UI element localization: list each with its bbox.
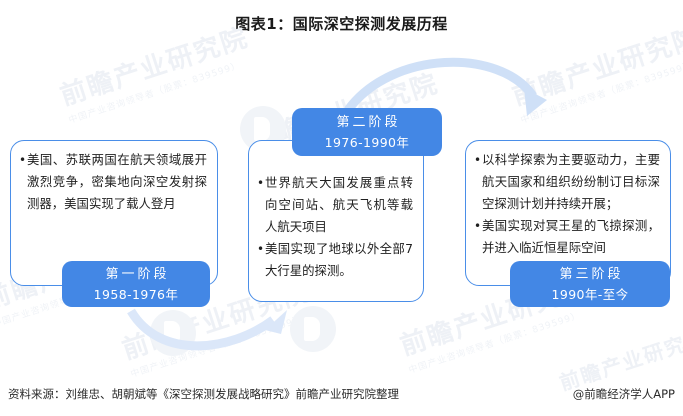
watermark-main: 前瞻产业研究院	[57, 23, 253, 112]
stage-3-label[interactable]: 第三阶段 1990年-至今	[510, 261, 670, 307]
stage-2-bullets: 世界航天大国发展重点转向空间站、航天飞机等载人航天项目 美国实现了地球以外全部7…	[248, 140, 424, 288]
list-item: 美国实现对冥王星的飞掠探测，并进入临近恒星际空间	[474, 215, 660, 259]
watermark-text: 前瞻产业研究院	[555, 321, 683, 396]
list-item: 美国实现了地球以外全部7大行星的探测。	[257, 238, 413, 282]
watermark-sub: 中国产业咨询领导者（股票：839599）	[67, 53, 257, 126]
page-title: 图表1：国际深空探测发展历程	[0, 13, 683, 34]
stage-1-title: 第一阶段	[102, 265, 169, 284]
watermark-main: 前瞻产业研究院	[557, 325, 683, 395]
qianzhan-logo-icon	[150, 310, 196, 356]
app-attribution: @前瞻经济学人APP	[573, 386, 675, 402]
stage-1-label[interactable]: 第一阶段 1958-1976年	[62, 261, 210, 307]
watermark-sub: 中国产业咨询领导者（股票：839599）	[519, 53, 683, 126]
infographic-root: 前瞻产业研究院 中国产业咨询领导者（股票：839599） 前瞻产业研究院 中国产…	[0, 0, 683, 416]
stage-1-bullets: 美国、苏联两国在航天领域展开激烈竞争，密集地向深空发射探测器，美国实现了载人登月	[10, 140, 218, 221]
list-item: 世界航天大国发展重点转向空间站、航天飞机等载人航天项目	[257, 172, 413, 238]
stage-3-title: 第三阶段	[556, 265, 623, 284]
stage-2-label[interactable]: 第二阶段 1976-1990年	[292, 108, 442, 156]
stage-2-title: 第二阶段	[333, 113, 400, 132]
stage-3-bullets: 以科学探索为主要驱动力，主要航天国家和组织纷纷制订目标深空探测计划并持续开展； …	[465, 140, 671, 265]
source-note: 资料来源：刘维忠、胡朝斌等《深空探测发展战略研究》前瞻产业研究院整理	[8, 386, 399, 402]
stage-3-years: 1990年-至今	[551, 285, 628, 304]
arrowhead-top	[524, 88, 547, 116]
watermark-sub: 中国产业咨询领导者（股票：839599）	[129, 307, 319, 380]
list-item: 以科学探索为主要驱动力，主要航天国家和组织纷纷制订目标深空探测计划并持续开展；	[474, 149, 660, 215]
watermark-main: 前瞻产业研究院	[509, 23, 683, 112]
list-item: 美国、苏联两国在航天领域展开激烈竞争，密集地向深空发射探测器，美国实现了载人登月	[19, 149, 207, 215]
qianzhan-logo-icon	[290, 306, 336, 352]
arrowhead-bottom	[265, 310, 287, 334]
stage-2-years: 1976-1990年	[325, 133, 410, 152]
watermark-sub: 中国产业咨询领导者（股票：839599）	[407, 303, 597, 376]
arrow-stage1-to-stage2	[131, 311, 273, 346]
stage-1-years: 1958-1976年	[94, 285, 179, 304]
arrow-stage2-to-stage3	[348, 62, 533, 110]
